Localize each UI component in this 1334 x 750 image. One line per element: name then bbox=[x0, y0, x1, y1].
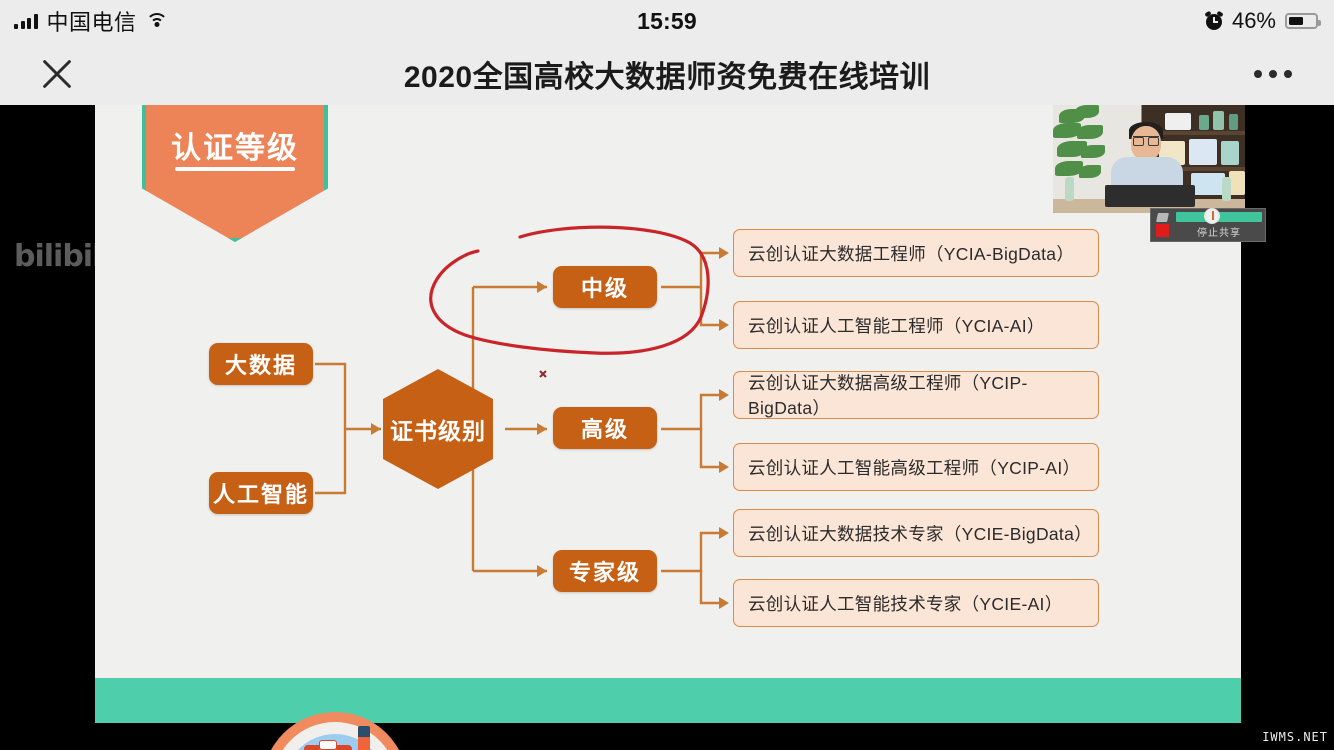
banner-underline bbox=[175, 167, 295, 171]
certificate-box: 云创认证大数据技术专家（YCIE-BigData） bbox=[733, 509, 1099, 557]
close-icon[interactable] bbox=[38, 55, 76, 93]
certificate-box: 云创认证人工智能技术专家（YCIE-AI） bbox=[733, 579, 1099, 627]
signal-bars-icon bbox=[14, 14, 38, 29]
slide-banner: 认证等级 bbox=[142, 105, 328, 242]
carrier-label: 中国电信 bbox=[47, 5, 137, 37]
clipboard-checklist-icon: ✔ ✔ ✔ bbox=[262, 712, 408, 750]
status-bar-right: 46% bbox=[1205, 8, 1334, 34]
status-bar: 中国电信 15:59 46% bbox=[0, 0, 1334, 42]
screen-share-control-bar[interactable]: 停止共享 bbox=[1150, 208, 1266, 242]
stop-share-button[interactable]: 停止共享 bbox=[1173, 222, 1265, 241]
certificate-box: 云创认证大数据工程师（YCIA-BigData） bbox=[733, 229, 1099, 277]
status-bar-clock: 15:59 bbox=[0, 8, 1334, 35]
pen-icon[interactable] bbox=[1156, 213, 1169, 222]
status-bar-left: 中国电信 bbox=[0, 5, 168, 37]
source-node-bigdata: 大数据 bbox=[209, 343, 313, 385]
presenter-webcam[interactable] bbox=[1053, 105, 1245, 213]
alarm-clock-icon bbox=[1205, 12, 1223, 30]
more-dots-icon[interactable] bbox=[1254, 70, 1292, 78]
stop-record-icon[interactable] bbox=[1156, 224, 1169, 237]
certificate-box: 云创认证人工智能高级工程师（YCIP-AI） bbox=[733, 443, 1099, 491]
certificate-box: 云创认证大数据高级工程师（YCIP-BigData） bbox=[733, 371, 1099, 419]
battery-percent-label: 46% bbox=[1232, 8, 1276, 34]
source-node-ai: 人工智能 bbox=[209, 472, 313, 514]
level-node-expert: 专家级 bbox=[553, 550, 657, 592]
nav-bar: 2020全国高校大数据师资免费在线培训 bbox=[0, 42, 1334, 105]
wifi-icon bbox=[146, 13, 168, 29]
center-node-certificate-level: 证书级别 bbox=[383, 369, 493, 489]
certificate-box: 云创认证人工智能工程师（YCIA-AI） bbox=[733, 301, 1099, 349]
page-title: 2020全国高校大数据师资免费在线培训 bbox=[0, 52, 1334, 96]
app-root: 中国电信 15:59 46% 2020全国高校大数据师资免费在线培训 bilib… bbox=[0, 0, 1334, 750]
corner-watermark: IWMS.NET bbox=[1262, 730, 1328, 744]
level-node-advanced: 高级 bbox=[553, 407, 657, 449]
battery-icon bbox=[1285, 13, 1318, 29]
level-node-intermediate: 中级 bbox=[553, 266, 657, 308]
banner-title: 认证等级 bbox=[142, 123, 328, 167]
video-stage[interactable]: bilibili 直播 认证等级 bbox=[0, 105, 1334, 750]
